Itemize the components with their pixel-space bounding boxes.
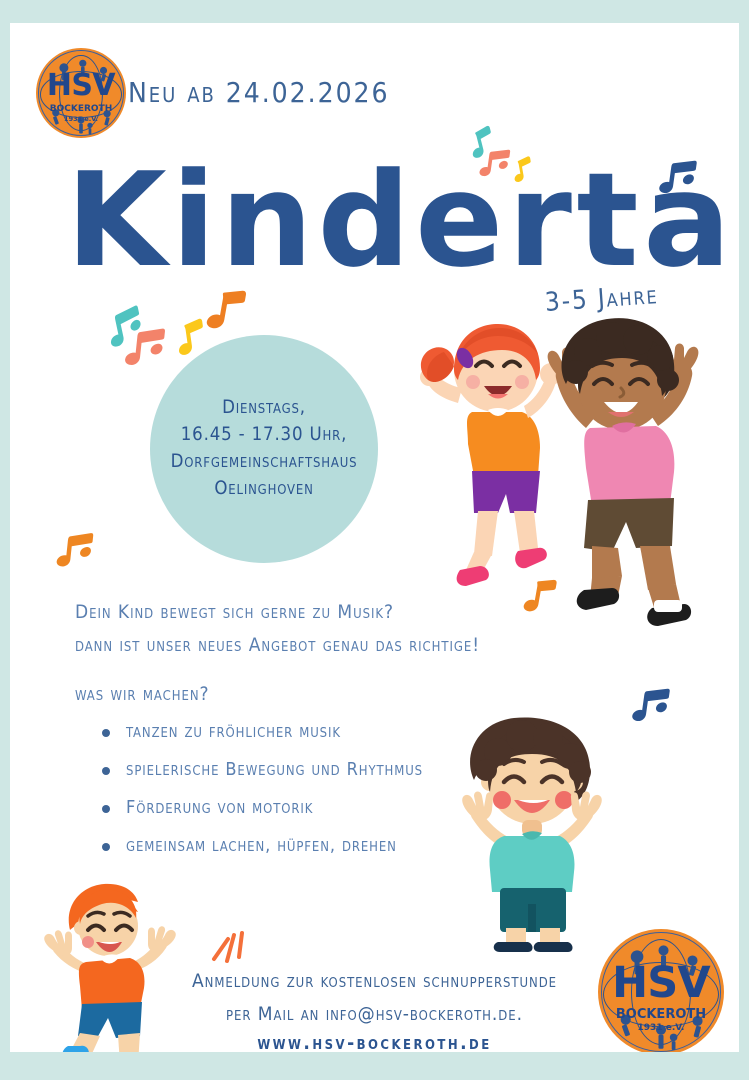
date-banner: Neu ab 24.02.2026 [128,76,390,109]
hsv-logo-top: HSV BOCKEROTH 1931 e.V. [36,48,126,138]
logo-club-text: BOCKEROTH [598,1008,724,1021]
illustration-boy-cheering [442,708,622,953]
list-item: tanzen zu fröhlicher musik [98,721,423,742]
illustration-boy-dancing [526,308,716,628]
list-item: gemeinsam lachen, hüpfen, drehen [98,835,423,856]
list-item: spielerische Bewegung und Rhythmus [98,759,423,780]
schedule-text: Dienstags, 16.45 - 17.30 Uhr, Dorfgemein… [165,395,364,502]
sparkle-burst-icon [206,923,252,965]
logo-hsv-text: HSV [36,71,126,101]
logo-founded-text: 1931 e.V. [598,1024,724,1033]
poster-canvas: HSV BOCKEROTH 1931 e.V. Neu ab 24.02.202… [10,23,739,1052]
note-coral-left-icon [118,321,171,374]
intro-line-2: dann ist unser neues Angebot genau das r… [75,634,480,656]
question-line: was wir machen? [75,683,210,705]
hsv-logo-bottom: HSV BOCKEROTH 1931 e.V. [598,929,724,1052]
page-title: Kindertanz [66,155,739,285]
illustration-boy-running [34,878,194,1052]
schedule-circle: Dienstags, 16.45 - 17.30 Uhr, Dorfgemein… [150,335,378,563]
note-yellow-top-icon [506,154,538,186]
note-orange-mid-icon [50,526,98,574]
note-blue-top-icon [652,152,702,202]
schedule-line-4: Oelinghoven [171,476,358,503]
note-orange-left-icon [196,281,254,339]
activities-list: tanzen zu fröhlicher musik spielerische … [98,721,423,873]
schedule-line-1: Dienstags, [171,395,358,422]
list-item: Förderung von motorik [98,797,423,818]
note-blue-right-icon [625,680,675,730]
schedule-line-2: 16.45 - 17.30 Uhr, [171,422,358,449]
intro-line-1: Dein Kind bewegt sich gerne zu Musik? [75,601,394,623]
logo-hsv-text: HSV [598,962,724,1005]
logo-club-text: BOCKEROTH [36,105,126,114]
logo-founded-text: 1931 e.V. [36,116,126,123]
schedule-line-3: Dorfgemeinschaftshaus [171,449,358,476]
